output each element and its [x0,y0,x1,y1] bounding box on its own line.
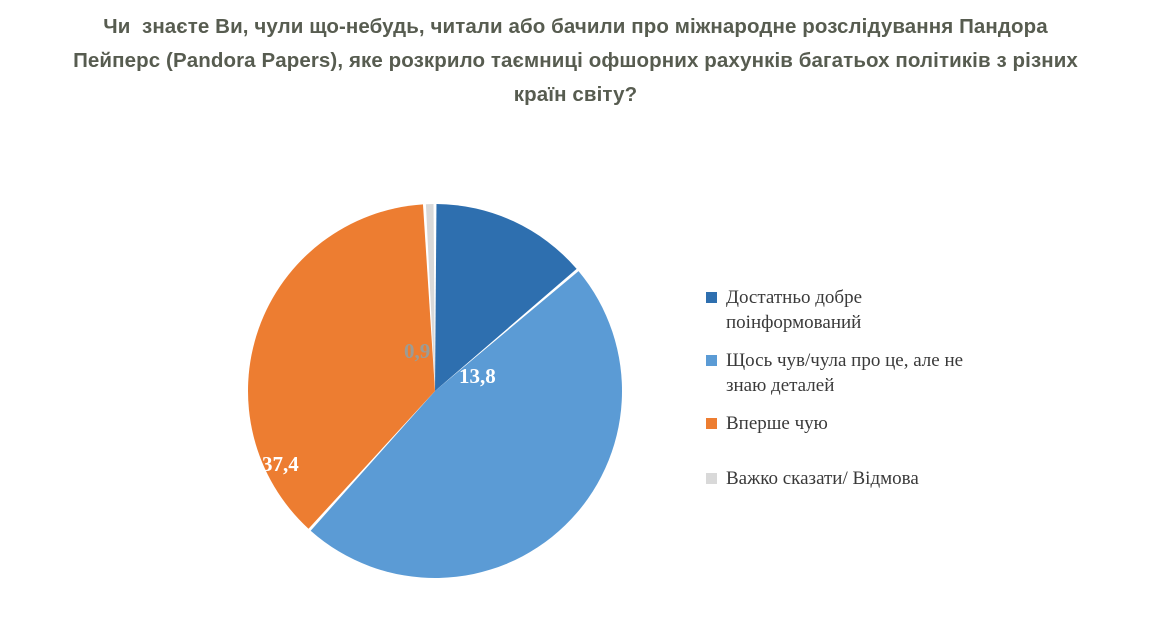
legend-item-2[interactable]: Вперше чую [706,411,1006,436]
legend-item-0[interactable]: Достатньо добре поінформований [706,285,1006,335]
legend-swatch-icon-3 [706,473,717,484]
chart-legend: Достатньо добре поінформований Щось чув/… [706,285,1006,504]
pie-slice-group [248,204,622,578]
pie-data-label-3: 0,9 [404,339,430,364]
legend-item-label-1: Щось чув/чула про це, але не знаю детале… [726,348,984,398]
legend-item-1[interactable]: Щось чув/чула про це, але не знаю детале… [706,348,1006,398]
pie-chart [0,130,700,600]
pie-data-label-2: 37,4 [262,452,299,477]
pie-data-label-0: 13,8 [459,364,496,389]
legend-swatch-icon-1 [706,355,717,366]
legend-swatch-icon-2 [706,418,717,429]
pie-data-label-1: 47,9 [508,619,545,644]
legend-item-label-0: Достатньо добре поінформований [726,285,984,335]
chart-plot-area: 13,8 47,9 37,4 0,9 [0,130,700,600]
legend-item-label-2: Вперше чую [726,411,828,436]
page-title: Чи знаєте Ви, чули що-небудь, читали або… [60,10,1091,112]
legend-item-label-3: Важко сказати/ Відмова [726,466,919,491]
legend-swatch-icon-0 [706,292,717,303]
legend-item-3[interactable]: Важко сказати/ Відмова [706,466,1006,491]
